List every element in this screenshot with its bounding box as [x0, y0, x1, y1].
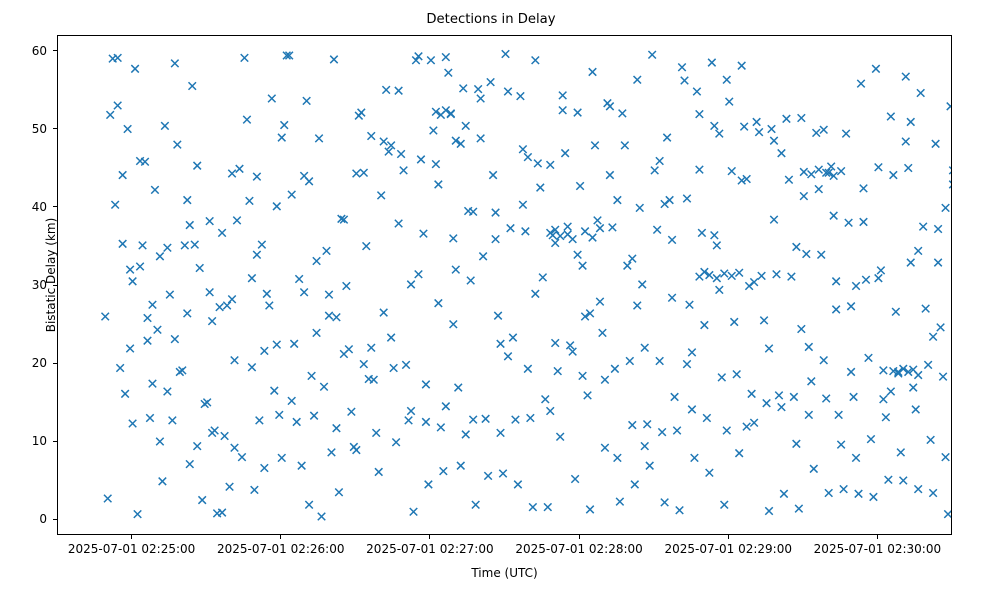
scatter-point: [810, 465, 818, 473]
scatter-point: [750, 278, 758, 286]
scatter-point: [370, 376, 378, 384]
scatter-point: [323, 247, 331, 255]
scatter-point: [606, 171, 614, 179]
scatter-point: [360, 169, 368, 177]
scatter-point: [847, 368, 855, 376]
scatter-point: [273, 203, 281, 211]
scatter-point: [435, 299, 443, 307]
scatter-point: [156, 438, 164, 446]
scatter-point: [571, 475, 579, 483]
scatter-point: [589, 234, 597, 242]
scatter-point: [305, 501, 313, 509]
scatter-point: [723, 76, 731, 84]
scatter-point: [415, 271, 423, 279]
scatter-point: [805, 411, 813, 419]
scatter-point: [494, 312, 502, 320]
scatter-point: [298, 462, 306, 470]
scatter-point: [442, 403, 450, 411]
scatter-point: [852, 282, 860, 290]
scatter-point: [917, 89, 925, 97]
scatter-point: [484, 472, 492, 480]
scatter-point: [542, 396, 550, 404]
scatter-point: [591, 142, 599, 150]
scatter-point: [313, 257, 321, 265]
scatter-point: [907, 259, 915, 267]
scatter-point: [492, 209, 500, 217]
scatter-point: [253, 173, 261, 181]
scatter-point: [497, 340, 505, 348]
scatter-point: [196, 264, 204, 272]
scatter-point: [198, 496, 206, 504]
scatter-point: [387, 334, 395, 342]
scatter-point: [358, 109, 366, 117]
scatter-point: [949, 167, 952, 175]
scatter-point: [937, 324, 945, 332]
scatter-point: [288, 191, 296, 199]
scatter-point: [614, 454, 622, 462]
scatter-point: [477, 95, 485, 103]
scatter-point: [887, 113, 895, 121]
scatter-point: [184, 196, 192, 204]
scatter-point: [241, 54, 249, 62]
scatter-point: [924, 361, 932, 369]
scatter-point: [325, 312, 333, 320]
scatter-point: [847, 303, 855, 311]
scatter-point: [534, 160, 542, 168]
scatter-point: [934, 259, 942, 267]
scatter-point: [124, 125, 132, 133]
y-tick-label: 0: [0, 511, 47, 527]
scatter-point: [529, 503, 537, 511]
scatter-point: [502, 50, 510, 58]
y-tick-label: 20: [0, 355, 47, 371]
scatter-point: [793, 243, 801, 251]
scatter-point: [450, 235, 458, 243]
scatter-point: [246, 197, 254, 205]
scatter-point: [733, 371, 741, 379]
x-tick-mark: [877, 535, 878, 539]
scatter-point: [136, 157, 144, 165]
scatter-point: [271, 387, 279, 395]
scatter-point: [775, 392, 783, 400]
scatter-point: [330, 56, 338, 64]
scatter-point: [101, 313, 109, 321]
scatter-series: [58, 36, 952, 535]
scatter-point: [641, 442, 649, 450]
scatter-point: [673, 427, 681, 435]
scatter-point: [390, 364, 398, 372]
scatter-point: [862, 276, 870, 284]
scatter-point: [875, 164, 883, 172]
scatter-point: [860, 185, 868, 193]
scatter-point: [455, 384, 463, 392]
scatter-point: [827, 163, 835, 171]
scatter-point: [507, 224, 515, 232]
scatter-point: [658, 428, 666, 436]
scatter-point: [375, 468, 383, 476]
scatter-point: [745, 282, 753, 290]
scatter-point: [728, 272, 736, 280]
scatter-point: [537, 184, 545, 192]
scatter-point: [932, 140, 940, 148]
scatter-point: [514, 481, 522, 489]
scatter-point: [253, 251, 261, 259]
scatter-point: [129, 420, 137, 428]
scatter-point: [519, 201, 527, 209]
scatter-point: [711, 122, 719, 130]
scatter-point: [181, 242, 189, 250]
scatter-point: [126, 345, 134, 353]
scatter-point: [432, 160, 440, 168]
scatter-point: [666, 196, 674, 204]
scatter-point: [942, 453, 950, 461]
scatter-point: [547, 161, 555, 169]
scatter-point: [497, 429, 505, 437]
scatter-point: [701, 321, 709, 329]
scatter-point: [850, 393, 858, 401]
scatter-point: [877, 267, 885, 275]
scatter-point: [243, 116, 251, 124]
scatter-point: [380, 138, 388, 146]
scatter-point: [897, 449, 905, 457]
scatter-point: [208, 317, 216, 325]
scatter-point: [765, 345, 773, 353]
scatter-point: [512, 416, 520, 424]
scatter-point: [949, 181, 952, 189]
scatter-point: [728, 167, 736, 175]
scatter-point: [290, 340, 298, 348]
scatter-point: [817, 251, 825, 259]
scatter-point: [248, 364, 256, 372]
scatter-point: [407, 407, 415, 415]
scatter-point: [601, 376, 609, 384]
scatter-point: [305, 178, 313, 186]
scatter-point: [589, 68, 597, 76]
scatter-point: [397, 150, 405, 158]
scatter-point: [785, 176, 793, 184]
scatter-point: [753, 118, 761, 126]
x-tick-mark: [280, 535, 281, 539]
scatter-point: [691, 454, 699, 462]
scatter-point: [136, 263, 144, 271]
scatter-point: [472, 501, 480, 509]
scatter-point: [440, 467, 448, 475]
scatter-point: [405, 417, 413, 425]
scatter-point: [842, 130, 850, 138]
scatter-point: [343, 282, 351, 290]
scatter-point: [713, 242, 721, 250]
scatter-point: [333, 314, 341, 322]
scatter-point: [407, 281, 415, 289]
scatter-point: [325, 291, 333, 299]
scatter-point: [609, 224, 617, 232]
scatter-point: [825, 489, 833, 497]
scatter-point: [559, 106, 567, 114]
scatter-point: [462, 122, 470, 130]
scatter-point: [651, 167, 659, 175]
scatter-point: [900, 477, 908, 485]
scatter-point: [544, 503, 552, 511]
scatter-point: [656, 357, 664, 365]
scatter-point: [624, 262, 632, 270]
scatter-point: [671, 393, 679, 401]
scatter-point: [517, 92, 525, 100]
scatter-point: [927, 436, 935, 444]
scatter-point: [474, 85, 482, 93]
scatter-point: [278, 454, 286, 462]
scatter-point: [778, 403, 786, 411]
scatter-point: [914, 247, 922, 255]
scatter-point: [636, 204, 644, 212]
scatter-point: [551, 339, 559, 347]
scatter-point: [663, 134, 671, 142]
scatter-point: [206, 217, 214, 225]
scatter-point: [387, 142, 395, 150]
scatter-point: [276, 411, 284, 419]
scatter-point: [765, 507, 773, 515]
scatter-point: [743, 423, 751, 431]
scatter-point: [706, 469, 714, 477]
scatter-point: [261, 347, 269, 355]
y-tick-label: 50: [0, 121, 47, 137]
scatter-point: [919, 223, 927, 231]
scatter-point: [169, 417, 177, 425]
scatter-point: [427, 56, 435, 64]
scatter-point: [914, 485, 922, 493]
scatter-point: [803, 250, 811, 258]
scatter-point: [693, 88, 701, 96]
scatter-point: [661, 499, 669, 507]
scatter-point: [887, 388, 895, 396]
scatter-point: [631, 481, 639, 489]
scatter-point: [750, 419, 758, 427]
scatter-point: [698, 229, 706, 237]
scatter-point: [459, 85, 467, 93]
scatter-point: [815, 166, 823, 174]
scatter-point: [574, 109, 582, 117]
scatter-point: [922, 305, 930, 313]
scatter-point: [793, 440, 801, 448]
scatter-point: [333, 424, 341, 432]
scatter-point: [226, 483, 234, 491]
scatter-point: [420, 230, 428, 238]
scatter-point: [569, 235, 577, 243]
scatter-point: [808, 378, 816, 386]
scatter-point: [611, 365, 619, 373]
scatter-point: [686, 301, 694, 309]
scatter-point: [721, 270, 729, 278]
scatter-point: [614, 196, 622, 204]
x-tick-mark: [728, 535, 729, 539]
scatter-point: [146, 414, 154, 422]
y-tick-label: 10: [0, 433, 47, 449]
scatter-point: [348, 408, 356, 416]
scatter-point: [437, 424, 445, 432]
x-tick-label: 2025-07-01 02:30:00: [787, 541, 967, 557]
scatter-point: [278, 134, 286, 142]
scatter-point: [676, 506, 684, 514]
x-tick-mark: [131, 535, 132, 539]
scatter-point: [634, 76, 642, 84]
scatter-point: [770, 216, 778, 224]
scatter-point: [566, 342, 574, 350]
scatter-point: [139, 242, 147, 250]
scatter-point: [522, 228, 530, 236]
scatter-point: [574, 251, 582, 259]
y-tick-label: 40: [0, 199, 47, 215]
scatter-point: [248, 274, 256, 282]
scatter-point: [166, 291, 174, 299]
scatter-point: [788, 273, 796, 281]
scatter-point: [164, 388, 172, 396]
scatter-point: [837, 441, 845, 449]
scatter-point: [740, 123, 748, 131]
scatter-point: [586, 506, 594, 514]
scatter-point: [798, 114, 806, 122]
scatter-point: [193, 162, 201, 170]
scatter-point: [770, 137, 778, 145]
scatter-point: [221, 432, 229, 440]
scatter-point: [422, 381, 430, 389]
scatter-point: [783, 115, 791, 123]
scatter-point: [171, 335, 179, 343]
scatter-point: [619, 110, 627, 118]
scatter-point: [261, 464, 269, 472]
scatter-point: [524, 365, 532, 373]
scatter-point: [121, 390, 129, 398]
scatter-point: [228, 170, 236, 178]
scatter-point: [892, 308, 900, 316]
scatter-point: [171, 60, 179, 68]
scatter-point: [808, 171, 816, 179]
scatter-point: [942, 204, 950, 212]
scatter-point: [581, 228, 589, 236]
scatter-point: [131, 65, 139, 73]
scatter-point: [661, 200, 669, 208]
scatter-point: [596, 224, 604, 232]
scatter-point: [119, 240, 127, 248]
scatter-point: [527, 414, 535, 422]
scatter-point: [104, 495, 112, 503]
scatter-point: [768, 125, 776, 133]
scatter-point: [800, 192, 808, 200]
scatter-point: [909, 384, 917, 392]
scatter-point: [902, 138, 910, 146]
scatter-point: [119, 171, 127, 179]
scatter-point: [457, 462, 465, 470]
scatter-point: [313, 329, 321, 337]
scatter-point: [653, 226, 661, 234]
scatter-point: [288, 397, 296, 405]
scatter-point: [524, 153, 532, 161]
scatter-point: [442, 53, 450, 61]
scatter-point: [368, 132, 376, 140]
scatter-point: [114, 102, 122, 110]
x-tick-mark: [579, 535, 580, 539]
y-axis-label: Bistatic Delay (km): [44, 25, 58, 525]
x-tick-mark: [429, 535, 430, 539]
scatter-point: [780, 490, 788, 498]
scatter-point: [189, 82, 197, 90]
scatter-point: [126, 266, 134, 274]
scatter-point: [417, 156, 425, 164]
scatter-point: [696, 110, 704, 118]
scatter-point: [711, 231, 719, 239]
scatter-point: [385, 148, 393, 156]
scatter-point: [882, 414, 890, 422]
chart-figure: Detections in Delay Bistatic Delay (km) …: [0, 0, 982, 590]
scatter-point: [228, 296, 236, 304]
scatter-point: [216, 303, 224, 311]
scatter-point: [929, 489, 937, 497]
scatter-point: [164, 244, 172, 252]
scatter-point: [616, 498, 624, 506]
scatter-point: [832, 306, 840, 314]
scatter-point: [509, 334, 517, 342]
scatter-point: [905, 164, 913, 172]
scatter-point: [402, 361, 410, 369]
scatter-point: [852, 454, 860, 462]
scatter-point: [303, 97, 311, 105]
scatter-point: [106, 111, 114, 119]
scatter-point: [223, 302, 231, 310]
scatter-point: [755, 128, 763, 136]
scatter-point: [688, 406, 696, 414]
scatter-point: [435, 181, 443, 189]
scatter-point: [907, 118, 915, 126]
scatter-point: [760, 317, 768, 325]
y-tick-label: 60: [0, 43, 47, 59]
scatter-point: [934, 225, 942, 233]
scatter-point: [820, 126, 828, 134]
scatter-point: [601, 444, 609, 452]
scatter-point: [638, 281, 646, 289]
scatter-point: [318, 513, 326, 521]
scatter-point: [606, 103, 614, 111]
scatter-point: [835, 411, 843, 419]
scatter-point: [236, 165, 244, 173]
scatter-point: [815, 185, 823, 193]
scatter-point: [561, 149, 569, 157]
scatter-point: [487, 78, 495, 86]
scatter-point: [499, 470, 507, 478]
scatter-point: [268, 95, 276, 103]
scatter-point: [944, 510, 952, 518]
scatter-point: [422, 418, 430, 426]
scatter-point: [865, 354, 873, 362]
scatter-point: [805, 343, 813, 351]
scatter-point: [258, 241, 266, 249]
scatter-point: [539, 274, 547, 282]
scatter-point: [353, 170, 361, 178]
scatter-point: [890, 171, 898, 179]
x-axis-label: Time (UTC): [57, 566, 952, 580]
scatter-point: [914, 371, 922, 379]
scatter-point: [716, 286, 724, 294]
scatter-point: [556, 433, 564, 441]
scatter-point: [256, 417, 264, 425]
scatter-point: [885, 476, 893, 484]
scatter-point: [174, 141, 182, 149]
scatter-point: [231, 356, 239, 364]
scatter-point: [939, 373, 947, 381]
scatter-point: [134, 510, 142, 518]
scatter-point: [718, 374, 726, 382]
scatter-point: [425, 481, 433, 489]
scatter-point: [186, 221, 194, 229]
scatter-point: [564, 223, 572, 231]
scatter-point: [392, 439, 400, 447]
